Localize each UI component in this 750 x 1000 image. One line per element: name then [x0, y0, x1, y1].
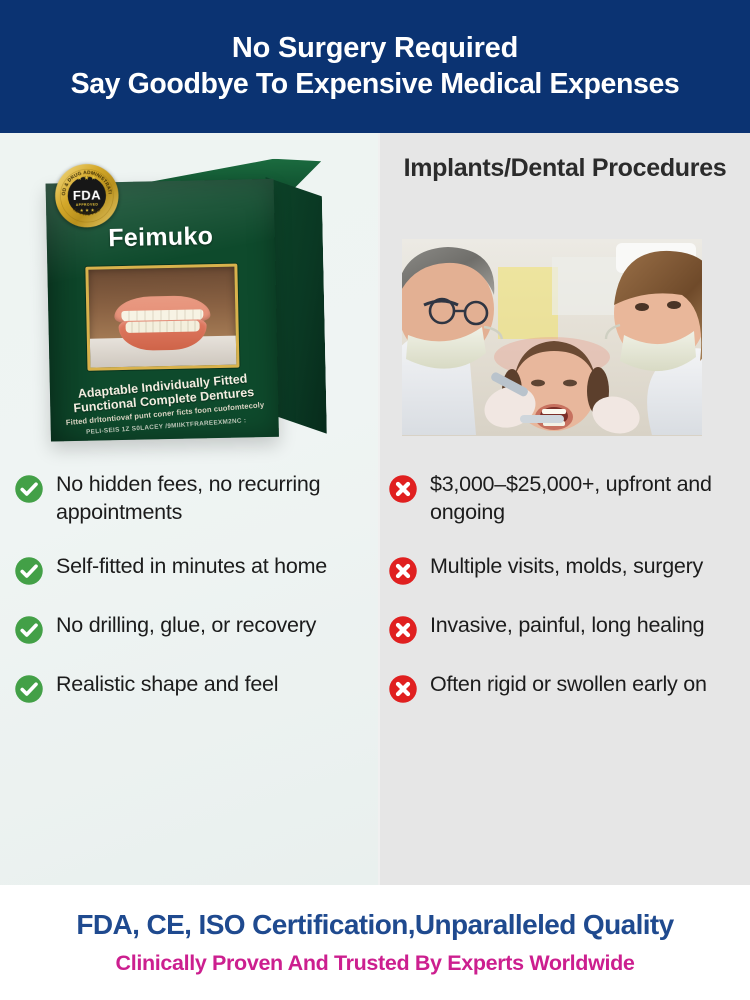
- svg-text:★ ★ ★: ★ ★ ★: [80, 207, 96, 212]
- list-item: Multiple visits, molds, surgery: [388, 553, 736, 586]
- benefits-list: No hidden fees, no recurring appointment…: [0, 471, 378, 730]
- list-item: No hidden fees, no recurring appointment…: [14, 471, 362, 527]
- footer-trust-line: Clinically Proven And Trusted By Experts…: [116, 951, 635, 976]
- x-circle-icon: [388, 556, 418, 586]
- svg-text:APPROVED: APPROVED: [76, 202, 99, 206]
- comparison-body: Feimuko: [0, 133, 750, 885]
- header-headline-primary: No Surgery Required: [232, 33, 518, 65]
- list-item: Self-fitted in minutes at home: [14, 553, 362, 586]
- banner-header: No Surgery Required Say Goodbye To Expen…: [0, 0, 750, 133]
- list-item-label: Often rigid or swollen early on: [430, 671, 707, 699]
- fda-approved-badge-icon: FOOD & DRUG ADMINISTRATION APPROVED ★ ★ …: [53, 162, 120, 229]
- x-circle-icon: [388, 674, 418, 704]
- list-item-label: No drilling, glue, or recovery: [56, 612, 316, 640]
- column-title-implants: Implants/Dental Procedures: [380, 153, 750, 184]
- list-item: $3,000–$25,000+, upfront and ongoing: [388, 471, 736, 527]
- list-item-label: No hidden fees, no recurring appointment…: [56, 471, 362, 527]
- list-item-label: $3,000–$25,000+, upfront and ongoing: [430, 471, 736, 527]
- denture-lower-teeth: [126, 321, 200, 334]
- list-item: No drilling, glue, or recovery: [14, 612, 362, 645]
- list-item-label: Self-fitted in minutes at home: [56, 553, 327, 581]
- drawbacks-list: $3,000–$25,000+, upfront and ongoing Mul…: [380, 471, 750, 730]
- carton-caption-block: Adaptable Individually Fitted Functional…: [54, 369, 274, 439]
- check-circle-icon: [14, 556, 44, 586]
- comparison-column-product: Feimuko: [0, 133, 378, 885]
- denture-product-image: [88, 267, 236, 368]
- footer-certification-line: FDA, CE, ISO Certification,Unparalleled …: [76, 909, 673, 941]
- svg-text:★ ★ ★: ★ ★ ★: [77, 175, 96, 182]
- product-carton: Feimuko: [33, 152, 307, 443]
- list-item: Invasive, painful, long healing: [388, 612, 736, 645]
- list-item-label: Invasive, painful, long healing: [430, 612, 704, 640]
- product-box-visual: Feimuko: [0, 133, 378, 463]
- list-item: Often rigid or swollen early on: [388, 671, 736, 704]
- x-circle-icon: [388, 615, 418, 645]
- dental-procedure-illustration: [402, 239, 702, 436]
- check-circle-icon: [14, 474, 44, 504]
- check-circle-icon: [14, 615, 44, 645]
- list-item-label: Multiple visits, molds, surgery: [430, 553, 703, 581]
- denture-set: [114, 295, 211, 353]
- check-circle-icon: [14, 674, 44, 704]
- header-headline-secondary: Say Goodbye To Expensive Medical Expense…: [71, 69, 680, 100]
- promo-comparison-banner: No Surgery Required Say Goodbye To Expen…: [0, 0, 750, 1000]
- comparison-column-alternative: Implants/Dental Procedures: [378, 133, 750, 885]
- list-item: Realistic shape and feel: [14, 671, 362, 704]
- x-circle-icon: [388, 474, 418, 504]
- banner-footer: FDA, CE, ISO Certification,Unparalleled …: [0, 885, 750, 1000]
- svg-text:FDA: FDA: [73, 187, 102, 203]
- list-item-label: Realistic shape and feel: [56, 671, 278, 699]
- carton-window: [85, 264, 239, 371]
- dental-procedure-photo: [402, 239, 702, 436]
- denture-lower-arch: [118, 320, 207, 352]
